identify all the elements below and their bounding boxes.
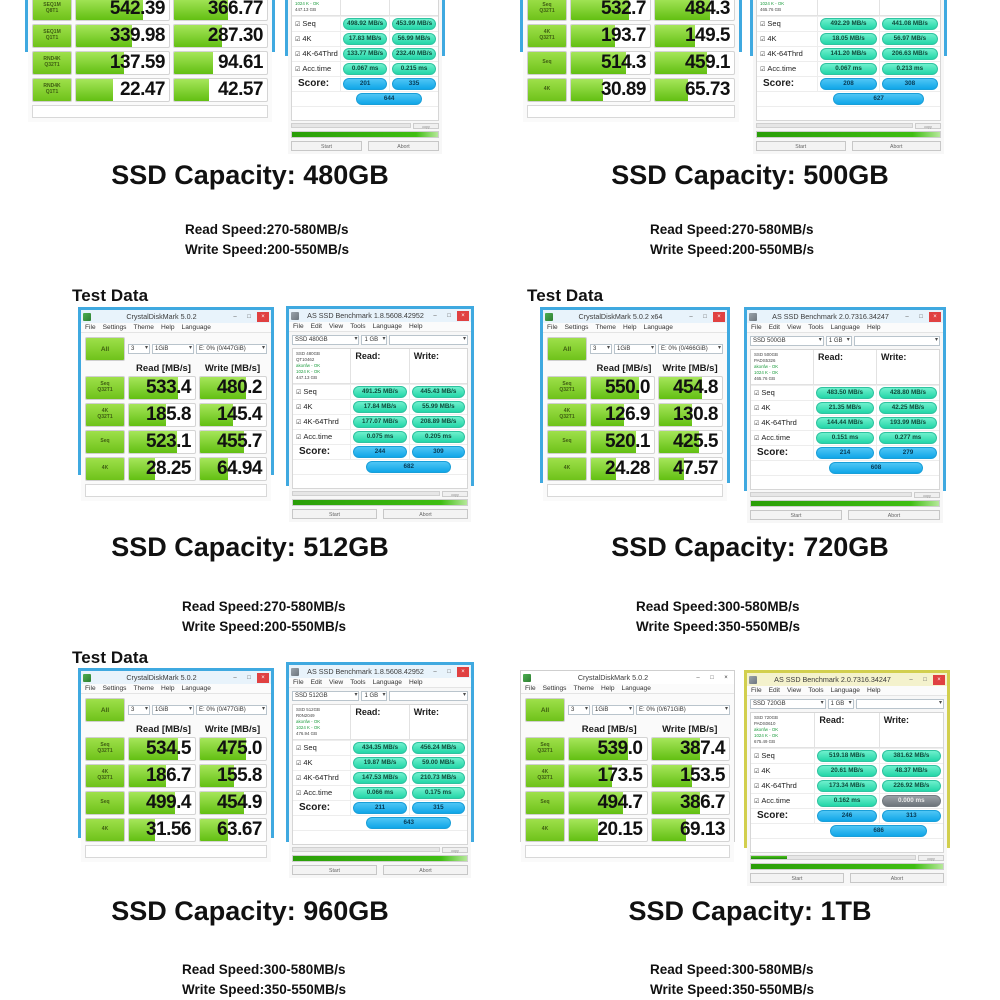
target-drive-select[interactable]: E: 0% (0/447GiB) <box>196 344 267 354</box>
abort-button[interactable]: Abort <box>848 510 940 520</box>
as-test-label[interactable]: ☑Acc.time <box>293 431 350 442</box>
maximize-button[interactable]: □ <box>243 312 255 322</box>
minimize-button[interactable]: – <box>905 675 917 685</box>
close-button[interactable]: × <box>720 673 732 683</box>
cdm-read-value: 24.28 <box>590 457 655 481</box>
close-button[interactable]: × <box>929 312 941 322</box>
cdm-result-row: 4K20.1569.13 <box>525 818 730 842</box>
as-test-label[interactable]: ☑Acc.time <box>751 795 814 806</box>
cdm-test-label[interactable]: Seq <box>85 791 125 815</box>
write-speed-spec: Write Speed:350-550MB/s <box>182 980 346 1000</box>
as-drive-select[interactable]: SSD 512GB <box>292 691 359 701</box>
maximize-button[interactable]: □ <box>706 673 718 683</box>
checkbox-icon[interactable]: ☑ <box>754 436 759 442</box>
all-button[interactable]: All <box>85 337 125 361</box>
as-test-name: 4K-64Thrd <box>767 49 802 58</box>
as-total-score-row: 686 <box>751 823 943 838</box>
as-size-select[interactable]: 1 GB <box>361 691 387 701</box>
copy-button[interactable]: copy <box>914 492 940 498</box>
menu-item-settings[interactable]: Settings <box>103 324 127 331</box>
cdm-select-group: 31GiBE: 0% (0/466GiB) <box>590 344 723 354</box>
target-drive-select[interactable]: E: 0% (0/671GiB) <box>636 705 730 715</box>
cdm-value-number: 459.1 <box>685 52 734 74</box>
checkbox-icon[interactable]: ☑ <box>296 776 301 782</box>
menu-item-tools[interactable]: Tools <box>808 687 823 694</box>
as-result-row: ☑4K-64Thrd141.20 MB/s206.63 MB/s <box>757 46 940 61</box>
as-read-cell: 133.77 MB/s <box>340 47 389 61</box>
as-score-row: Score:201335 <box>292 76 438 91</box>
as-test-label[interactable]: ☑Acc.time <box>757 63 817 74</box>
cdm-result-row: RND4KQ1T122.4742.57 <box>32 78 268 102</box>
menu-item-language[interactable]: Language <box>373 679 402 686</box>
checkbox-icon[interactable]: ☑ <box>296 761 301 767</box>
abort-button[interactable]: Abort <box>383 865 468 875</box>
as-score-label: Score: <box>296 800 333 815</box>
menu-item-edit[interactable]: Edit <box>769 324 780 331</box>
cdm-test-label[interactable]: 4KQ32T1 <box>85 403 125 427</box>
menu-item-edit[interactable]: Edit <box>311 323 322 330</box>
as-read-value: 434.35 MB/s <box>353 742 406 754</box>
as-test-label[interactable]: ☑4K-64Thrd <box>751 780 814 791</box>
minimize-button[interactable]: – <box>692 673 704 683</box>
cdm-test-label[interactable]: 4KQ32T1 <box>525 764 565 788</box>
minimize-button[interactable]: – <box>229 673 241 683</box>
menu-item-file[interactable]: File <box>85 324 96 331</box>
as-write-value: 208.89 MB/s <box>412 416 465 428</box>
as-test-label[interactable]: ☑4K <box>293 757 350 768</box>
cdm-value-number: 20.15 <box>597 819 646 841</box>
as-test-label[interactable]: ☑Seq <box>751 387 813 398</box>
close-button[interactable]: × <box>457 311 469 321</box>
minimize-button[interactable]: – <box>685 312 697 322</box>
abort-button[interactable]: Abort <box>852 141 942 151</box>
all-button[interactable]: All <box>547 337 587 361</box>
checkbox-icon[interactable]: ☑ <box>295 67 300 73</box>
as-test-label[interactable]: ☑4K-64Thrd <box>757 48 817 59</box>
checkbox-icon[interactable]: ☑ <box>295 22 300 28</box>
window-title: AS SSD Benchmark 2.0.7316.34247 <box>760 675 905 684</box>
as-ssd-app-icon <box>291 668 299 676</box>
menu-item-view[interactable]: View <box>329 323 343 330</box>
menu-item-language[interactable]: Language <box>373 323 402 330</box>
checkbox-icon[interactable]: ☑ <box>296 791 301 797</box>
as-read-cell: 19.87 MB/s <box>350 756 408 770</box>
as-result-row: ☑4K-64Thrd133.77 MB/s232.40 MB/s <box>292 46 438 61</box>
copy-button[interactable]: copy <box>442 847 468 853</box>
abort-button[interactable]: Abort <box>850 873 944 883</box>
as-read-value: 0.067 ms <box>820 63 876 75</box>
as-name-field[interactable] <box>389 691 468 701</box>
window-titlebar: AS SSD Benchmark 2.0.7316.34247–□× <box>747 310 943 323</box>
as-test-label[interactable]: ☑Acc.time <box>292 63 340 74</box>
checkbox-icon[interactable]: ☑ <box>296 746 301 752</box>
menu-item-theme[interactable]: Theme <box>595 324 616 331</box>
cdm-test-label[interactable]: 4K <box>85 457 125 481</box>
cdm-result-row: Seq514.3459.1 <box>527 51 735 75</box>
cdm-read-value: 542.39 <box>75 0 170 21</box>
close-button[interactable]: × <box>457 667 469 677</box>
as-total-score: 627 <box>833 93 924 105</box>
cdm-test-label[interactable]: Seq <box>547 430 587 454</box>
as-score-label: Score: <box>754 808 791 823</box>
as-size-select[interactable]: 1 GB <box>361 335 387 345</box>
cdm-test-label[interactable]: 4K <box>85 818 125 842</box>
as-name-field[interactable] <box>389 335 468 345</box>
cdm-test-label[interactable]: RND4KQ1T1 <box>32 78 72 102</box>
maximize-button[interactable]: □ <box>699 312 711 322</box>
checkbox-icon[interactable]: ☑ <box>754 421 759 427</box>
as-result-row: ☑4K-64Thrd177.07 MB/s208.89 MB/s <box>293 414 467 429</box>
abort-button[interactable]: Abort <box>368 141 439 151</box>
checkbox-icon[interactable]: ☑ <box>296 390 301 396</box>
as-ssd-app-icon <box>291 312 299 320</box>
as-write-value: 445.43 MB/s <box>412 386 465 398</box>
as-ssd-menubar: FileEditViewToolsLanguageHelp <box>289 322 471 332</box>
cdm-write-value: 425.5 <box>658 430 723 454</box>
menu-item-file[interactable]: File <box>85 685 96 692</box>
abort-button[interactable]: Abort <box>383 509 468 519</box>
menu-item-view[interactable]: View <box>787 324 801 331</box>
as-size-select[interactable]: 1 GB <box>826 336 852 346</box>
menu-item-help[interactable]: Help <box>623 324 637 331</box>
as-test-label[interactable]: ☑Seq <box>757 18 817 29</box>
menu-item-settings[interactable]: Settings <box>565 324 589 331</box>
cdm-test-label[interactable]: 4KQ32T1 <box>85 764 125 788</box>
as-test-label[interactable]: ☑4K <box>751 765 814 776</box>
as-write-score: 335 <box>392 78 436 90</box>
cdm-read-value: 550.0 <box>590 376 655 400</box>
as-total-spacer <box>751 824 814 838</box>
menu-item-help[interactable]: Help <box>161 324 175 331</box>
as-read-score: 214 <box>816 447 874 459</box>
run-count-select[interactable]: 3 <box>128 344 150 354</box>
as-test-label[interactable]: ☑4K-64Thrd <box>751 417 813 428</box>
cdm-value-bar <box>174 79 209 101</box>
maximize-button[interactable]: □ <box>243 673 255 683</box>
checkbox-icon[interactable]: ☑ <box>760 67 765 73</box>
as-grid-header: SSD 500GBPADS5326akonfw - OK1024 K - OK4… <box>751 350 939 385</box>
as-read-value: 177.07 MB/s <box>353 416 406 428</box>
as-name-field[interactable] <box>854 336 940 346</box>
menu-item-language[interactable]: Language <box>831 324 860 331</box>
as-name-field[interactable] <box>856 699 944 709</box>
menu-item-help[interactable]: Help <box>867 687 881 694</box>
menu-item-language[interactable]: Language <box>644 324 673 331</box>
target-drive-select[interactable]: E: 0% (0/477GiB) <box>196 705 267 715</box>
checkbox-icon[interactable]: ☑ <box>296 420 301 426</box>
as-result-row: ☑Acc.time0.067 ms0.213 ms <box>757 61 940 76</box>
checkbox-icon[interactable]: ☑ <box>296 405 301 411</box>
cdm-test-label-line2: Q32T1 <box>539 9 554 15</box>
cdm-test-label-line1: 4K <box>102 466 108 472</box>
start-button[interactable]: Start <box>750 873 844 883</box>
as-test-label[interactable]: ☑Acc.time <box>293 787 350 798</box>
menu-item-theme[interactable]: Theme <box>573 685 594 692</box>
menu-item-help[interactable]: Help <box>161 685 175 692</box>
as-write-header: Write: <box>389 0 438 15</box>
copy-button[interactable]: copy <box>442 491 468 497</box>
as-results-grid: SSD 480GBQT10462akonfw - OK1024 K - OK44… <box>291 0 439 121</box>
menu-item-language[interactable]: Language <box>182 685 211 692</box>
cdm-write-value: 455.7 <box>199 430 267 454</box>
cdm-value-number: 550.0 <box>605 377 654 399</box>
start-button[interactable]: Start <box>756 141 846 151</box>
window-title: AS SSD Benchmark 1.8.5608.42952 <box>302 311 429 320</box>
cdm-test-label[interactable]: SEQ1MQ1T1 <box>32 24 72 48</box>
menu-item-file[interactable]: File <box>751 324 762 331</box>
checkbox-icon[interactable]: ☑ <box>754 784 759 790</box>
cdm-test-label-line1: Seq <box>542 60 551 66</box>
menu-item-theme[interactable]: Theme <box>133 324 154 331</box>
window-controls: –□× <box>901 312 941 322</box>
checkbox-icon[interactable]: ☑ <box>754 406 759 412</box>
cdm-write-value: 94.61 <box>173 51 268 75</box>
crystaldiskmark-app-icon <box>545 313 553 321</box>
run-count-select[interactable]: 3 <box>568 705 590 715</box>
checkbox-icon[interactable]: ☑ <box>754 391 759 397</box>
read-speed-spec: Read Speed:270-580MB/s <box>650 220 814 240</box>
as-button-row: StartAbort <box>292 509 468 519</box>
cdm-test-label-line2: Q1T1 <box>46 90 59 96</box>
menu-item-view[interactable]: View <box>787 687 801 694</box>
menu-item-help[interactable]: Help <box>409 679 423 686</box>
minimize-button[interactable]: – <box>229 312 241 322</box>
menu-item-settings[interactable]: Settings <box>543 685 567 692</box>
cdm-value-number: 31.56 <box>146 819 195 841</box>
cdm-write-value: 130.8 <box>658 403 723 427</box>
run-count-select[interactable]: 3 <box>590 344 612 354</box>
window-controls: –□× <box>229 673 269 683</box>
test-size-select[interactable]: 1GiB <box>152 344 194 354</box>
all-button[interactable]: All <box>85 698 125 722</box>
as-drive-select[interactable]: SSD 480GB <box>292 335 359 345</box>
cdm-test-label[interactable]: SeqQ32T1 <box>547 376 587 400</box>
cdm-value-number: 155.8 <box>217 765 266 787</box>
as-test-label[interactable]: ☑4K <box>757 33 817 44</box>
as-read-cell: 141.20 MB/s <box>817 47 878 61</box>
minimize-button[interactable]: – <box>429 667 441 677</box>
as-test-label[interactable]: ☑Seq <box>751 750 814 761</box>
cdm-test-label-line2: Q32T1 <box>97 415 112 421</box>
cdm-read-value: 30.89 <box>570 78 651 102</box>
as-write-score-cell: 309 <box>409 445 467 459</box>
as-size-select[interactable]: 1 GB <box>828 699 854 709</box>
checkbox-icon[interactable]: ☑ <box>754 799 759 805</box>
cdm-write-value: 480.2 <box>199 376 267 400</box>
as-read-cell: 18.05 MB/s <box>817 32 878 46</box>
cdm-test-label[interactable]: SeqQ32T1 <box>527 0 567 21</box>
cdm-test-label[interactable]: Seq <box>525 791 565 815</box>
cdm-column-headers: Read [MB/s]Write [MB/s] <box>129 363 267 374</box>
cdm-value-number: 480.2 <box>217 377 266 399</box>
menu-item-language[interactable]: Language <box>831 687 860 694</box>
menu-item-language[interactable]: Language <box>622 685 651 692</box>
as-write-score-cell: 313 <box>879 809 943 823</box>
checkbox-icon[interactable]: ☑ <box>295 52 300 58</box>
cdm-test-label[interactable]: SeqQ32T1 <box>85 376 125 400</box>
as-test-label[interactable]: ☑Seq <box>293 386 350 397</box>
as-progress-main-fill <box>293 856 467 861</box>
as-grid-filler <box>293 830 467 844</box>
maximize-button[interactable]: □ <box>919 675 931 685</box>
cdm-value-number: 366.77 <box>208 0 267 20</box>
as-ssd-benchmark-window: AS SSD Benchmark 1.8.5608.42952–□×FileEd… <box>286 662 474 842</box>
as-score-label-cell: Score: <box>751 446 813 459</box>
as-test-label[interactable]: ☑4K <box>292 33 340 44</box>
as-total-spacer <box>293 816 350 830</box>
test-size-select[interactable]: 1GiB <box>614 344 656 354</box>
cdm-value-number: 65.73 <box>685 79 734 101</box>
cdm-value-number: 193.7 <box>601 25 650 47</box>
checkbox-icon[interactable]: ☑ <box>295 37 300 43</box>
menu-item-help[interactable]: Help <box>601 685 615 692</box>
menu-item-file[interactable]: File <box>525 685 536 692</box>
menu-item-tools[interactable]: Tools <box>350 679 365 686</box>
as-read-header: Read: <box>817 0 878 15</box>
maximize-button[interactable]: □ <box>443 667 455 677</box>
as-test-label[interactable]: ☑4K-64Thrd <box>293 416 350 427</box>
capacity-title: SSD Capacity: 720GB <box>500 532 1000 563</box>
cdm-test-label-line2: Q32T1 <box>97 749 112 755</box>
menu-item-edit[interactable]: Edit <box>769 687 780 694</box>
start-button[interactable]: Start <box>291 141 362 151</box>
as-test-name: Seq <box>761 388 774 397</box>
cdm-test-label[interactable]: Seq <box>85 430 125 454</box>
cdm-test-label-line2: Q32T1 <box>97 388 112 394</box>
minimize-button[interactable]: – <box>901 312 913 322</box>
maximize-button[interactable]: □ <box>443 311 455 321</box>
checkbox-icon[interactable]: ☑ <box>760 22 765 28</box>
as-write-value: 42.25 MB/s <box>879 402 937 414</box>
as-drive-select[interactable]: SSD 500GB <box>750 336 824 346</box>
cdm-result-row: Seq520.1425.5 <box>547 430 723 454</box>
cdm-test-label-line2: Q32T1 <box>537 749 552 755</box>
close-button[interactable]: × <box>933 675 945 685</box>
cdm-test-label[interactable]: SeqQ32T1 <box>85 737 125 761</box>
menu-item-file[interactable]: File <box>293 323 304 330</box>
start-button[interactable]: Start <box>750 510 842 520</box>
menu-item-file[interactable]: File <box>293 679 304 686</box>
menu-item-help[interactable]: Help <box>409 323 423 330</box>
close-button[interactable]: × <box>257 312 269 322</box>
test-size-select[interactable]: 1GiB <box>152 705 194 715</box>
menu-item-settings[interactable]: Settings <box>103 685 127 692</box>
target-drive-select[interactable]: E: 0% (0/466GiB) <box>658 344 723 354</box>
menu-item-tools[interactable]: Tools <box>808 324 823 331</box>
menu-item-theme[interactable]: Theme <box>133 685 154 692</box>
as-ssd-benchmark-window: AS SSD Benchmark 1.8.5608.42952–□×FileEd… <box>285 0 445 56</box>
as-test-label[interactable]: ☑Seq <box>293 742 350 753</box>
as-write-score: 315 <box>412 802 465 814</box>
cdm-read-value: 173.5 <box>568 764 648 788</box>
start-button[interactable]: Start <box>292 865 377 875</box>
as-score-row: Score:208308 <box>757 76 940 91</box>
cdm-test-label[interactable]: 4KQ32T1 <box>527 24 567 48</box>
crystaldiskmark-window: CrystalDiskMark 5.0.2–□×FileSettingsThem… <box>25 0 275 52</box>
menu-item-tools[interactable]: Tools <box>350 323 365 330</box>
as-total-score-cell: 643 <box>350 816 467 830</box>
checkbox-icon[interactable]: ☑ <box>754 754 759 760</box>
as-total-score: 608 <box>829 462 923 474</box>
as-progress-bar-main <box>756 131 941 138</box>
as-test-name: Acc.time <box>767 64 796 73</box>
test-size-select[interactable]: 1GiB <box>592 705 634 715</box>
as-test-name: 4K-64Thrd <box>302 49 337 58</box>
menu-item-edit[interactable]: Edit <box>311 679 322 686</box>
menu-item-file[interactable]: File <box>751 687 762 694</box>
as-test-label[interactable]: ☑4K-64Thrd <box>292 48 340 59</box>
copy-button[interactable]: copy <box>413 123 439 129</box>
cdm-test-label[interactable]: SEQ1MQ8T1 <box>32 0 72 21</box>
cdm-test-label[interactable]: 4K <box>527 78 567 102</box>
cdm-select-group: 31GiBE: 0% (0/447GiB) <box>128 344 267 354</box>
as-write-cell: 0.205 ms <box>409 430 467 444</box>
as-ssd-benchmark-window: AS SSD Benchmark 2.0.7316.34247–□×FileEd… <box>750 0 947 56</box>
as-read-value: 17.84 MB/s <box>353 401 406 413</box>
maximize-button[interactable]: □ <box>915 312 927 322</box>
as-score-label: Score: <box>296 444 333 459</box>
as-test-name: 4K <box>761 766 770 775</box>
menu-item-help[interactable]: Help <box>867 324 881 331</box>
as-score-label-cell: Score: <box>757 77 817 90</box>
all-button[interactable]: All <box>525 698 565 722</box>
window-controls: –□× <box>429 667 469 677</box>
close-button[interactable]: × <box>713 312 725 322</box>
crystaldiskmark-menubar: FileSettingsThemeHelpLanguage <box>81 684 271 694</box>
as-test-name: Acc.time <box>303 432 332 441</box>
checkbox-icon[interactable]: ☑ <box>754 769 759 775</box>
menu-item-language[interactable]: Language <box>182 324 211 331</box>
as-score-label: Score: <box>760 76 797 91</box>
minimize-button[interactable]: – <box>429 311 441 321</box>
as-test-label[interactable]: ☑Seq <box>292 18 340 29</box>
menu-item-file[interactable]: File <box>547 324 558 331</box>
checkbox-icon[interactable]: ☑ <box>760 52 765 58</box>
speed-spec: Read Speed:300-580MB/sWrite Speed:350-55… <box>182 960 346 999</box>
as-test-label[interactable]: ☑Acc.time <box>751 432 813 443</box>
capacity-title: SSD Capacity: 1TB <box>500 896 1000 927</box>
run-count-select[interactable]: 3 <box>128 705 150 715</box>
copy-button[interactable]: copy <box>918 855 944 861</box>
as-progress-bar-main <box>292 499 468 506</box>
cdm-test-label[interactable]: Seq <box>527 51 567 75</box>
cdm-read-value: 28.25 <box>128 457 196 481</box>
cdm-test-label-line2: Q32T1 <box>537 776 552 782</box>
read-speed-spec: Read Speed:300-580MB/s <box>182 960 346 980</box>
as-test-label[interactable]: ☑4K-64Thrd <box>293 772 350 783</box>
cdm-column-headers: Read [MB/s]Write [MB/s] <box>129 724 267 735</box>
as-test-label[interactable]: ☑4K <box>293 401 350 412</box>
as-total-score-row: 627 <box>757 91 940 106</box>
cdm-test-label[interactable]: SeqQ32T1 <box>525 737 565 761</box>
as-drive-select[interactable]: SSD 720GB <box>750 699 826 709</box>
checkbox-icon[interactable]: ☑ <box>296 435 301 441</box>
cdm-test-label-line2: Q1T1 <box>46 36 59 42</box>
cdm-controls-row: All31GiBE: 0% (0/447GiB) <box>85 337 267 361</box>
as-progress-bar-small <box>750 492 912 497</box>
menu-item-view[interactable]: View <box>329 679 343 686</box>
start-button[interactable]: Start <box>292 509 377 519</box>
as-test-label[interactable]: ☑4K <box>751 402 813 413</box>
cdm-test-label[interactable]: 4KQ32T1 <box>547 403 587 427</box>
copy-button[interactable]: copy <box>915 123 941 129</box>
cdm-test-label[interactable]: 4K <box>525 818 565 842</box>
close-button[interactable]: × <box>257 673 269 683</box>
cdm-column-headers: Read [MB/s]Write [MB/s] <box>569 724 730 735</box>
checkbox-icon[interactable]: ☑ <box>760 37 765 43</box>
cdm-test-label[interactable]: 4K <box>547 457 587 481</box>
cdm-test-label[interactable]: RND4KQ32T1 <box>32 51 72 75</box>
